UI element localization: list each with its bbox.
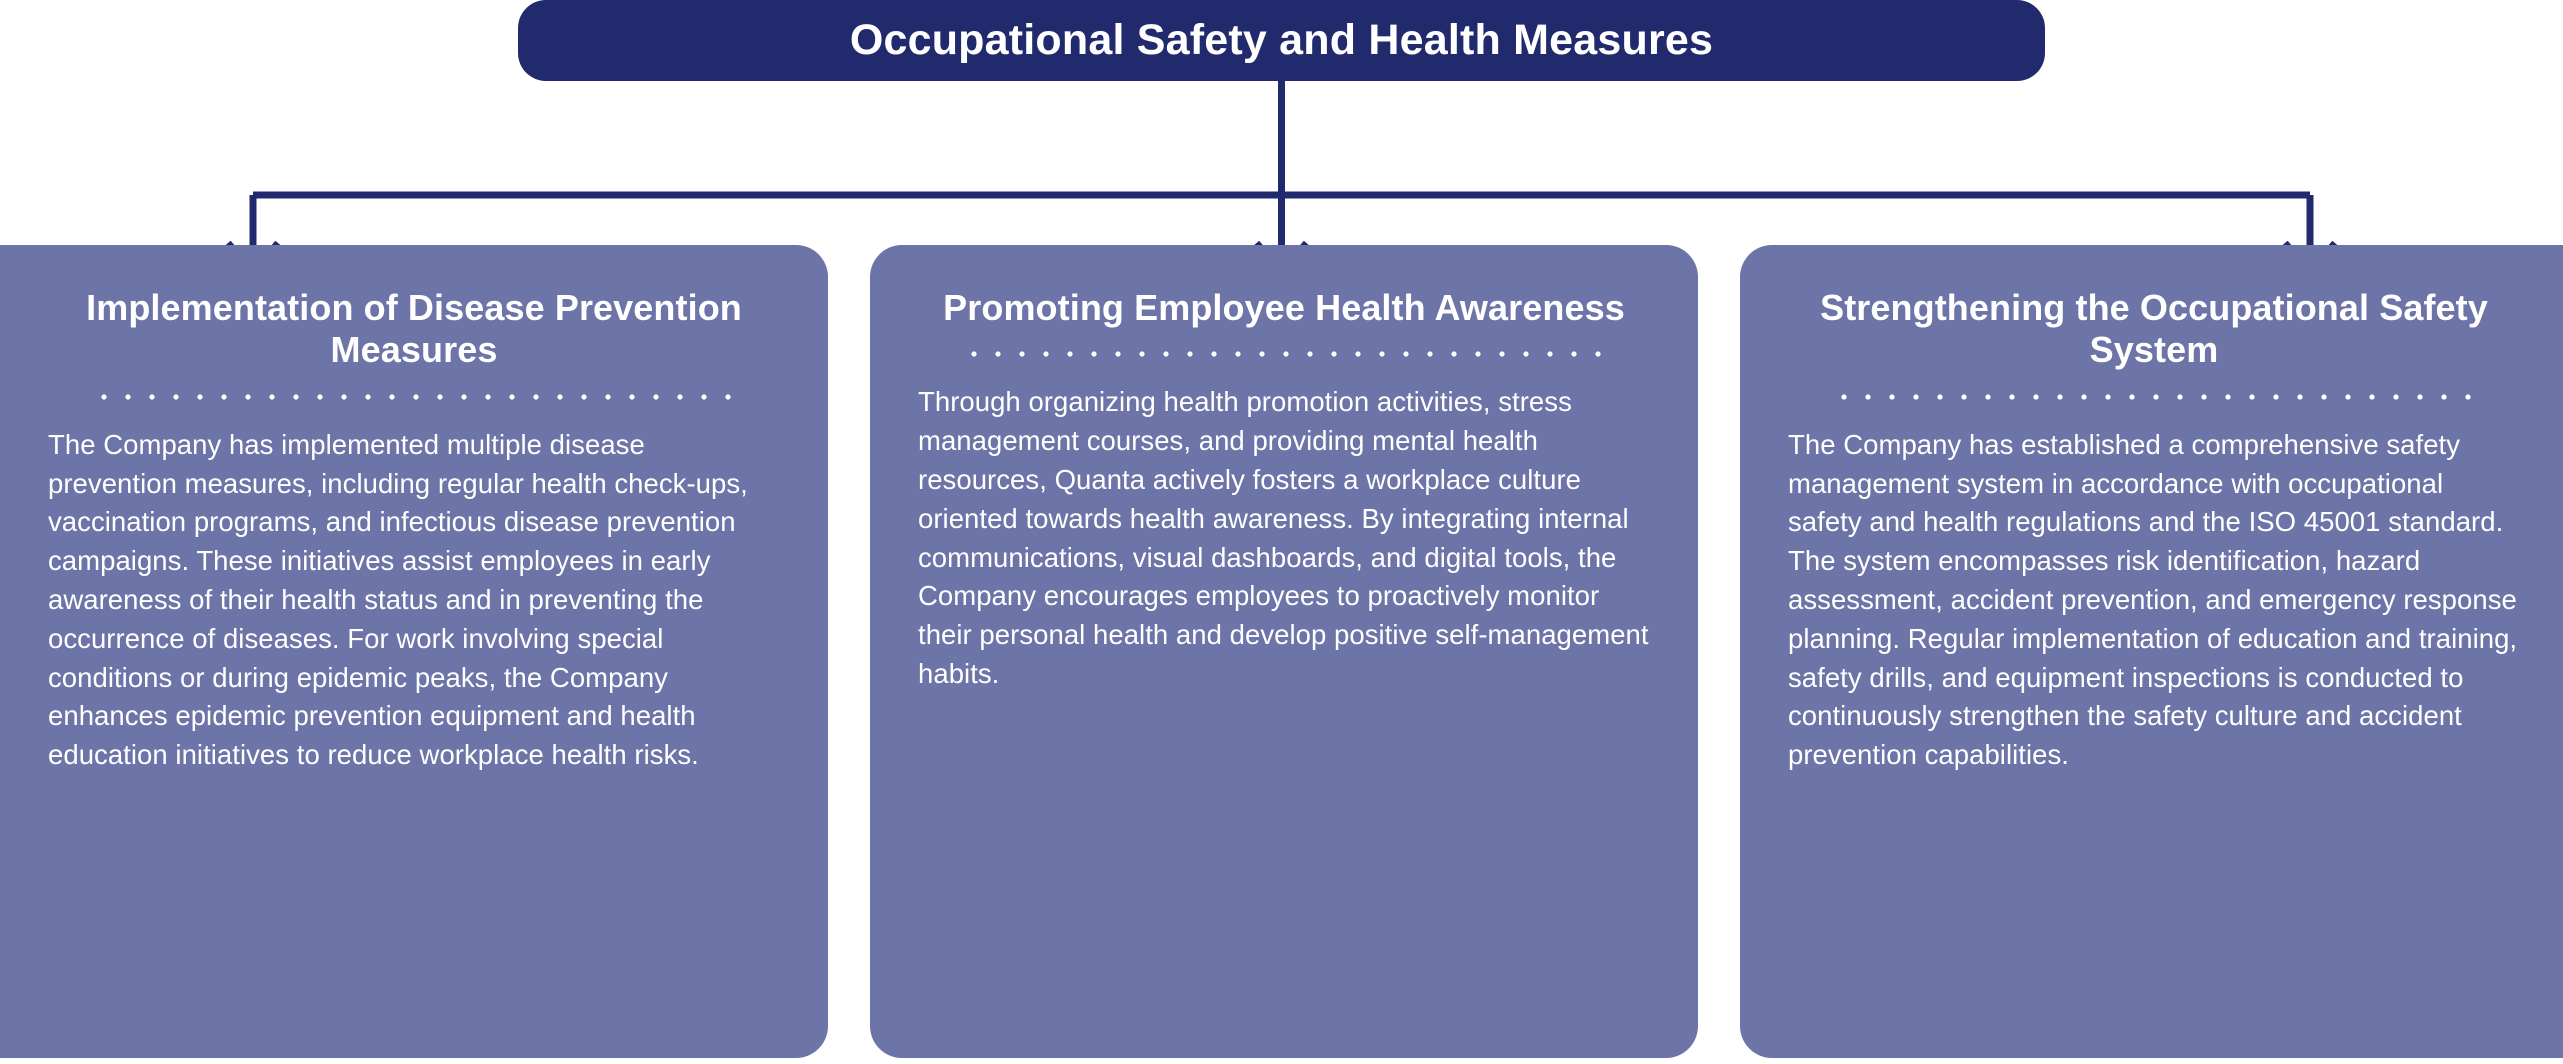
card-safety-system: Strengthening the Occupational Safety Sy…	[1740, 245, 2563, 1058]
header-node: Occupational Safety and Health Measures	[518, 0, 2045, 81]
card-title: Strengthening the Occupational Safety Sy…	[1740, 287, 2563, 372]
card-content: Strengthening the Occupational Safety Sy…	[1740, 245, 2563, 1058]
card-disease-prevention: Implementation of Disease Prevention Mea…	[0, 245, 828, 1058]
card-health-awareness: Promoting Employee Health Awareness Thro…	[870, 245, 1698, 1058]
card-title: Implementation of Disease Prevention Mea…	[0, 287, 828, 372]
card-body-text: Through organizing health promotion acti…	[870, 357, 1698, 693]
card-content: Promoting Employee Health Awareness Thro…	[870, 245, 1698, 1058]
card-title: Promoting Employee Health Awareness	[870, 287, 1698, 329]
diagram-canvas: Occupational Safety and Health Measures …	[0, 0, 2563, 1064]
card-body-text: The Company has established a comprehens…	[1740, 400, 2563, 775]
card-body-text: The Company has implemented multiple dis…	[0, 400, 828, 775]
page-title: Occupational Safety and Health Measures	[850, 18, 1713, 63]
card-content: Implementation of Disease Prevention Mea…	[0, 245, 828, 1058]
